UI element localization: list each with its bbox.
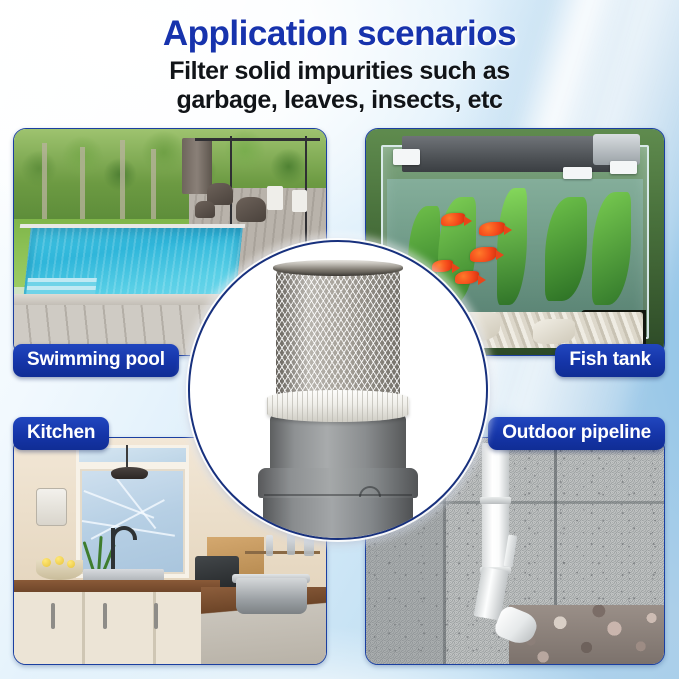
page-subtitle: Filter solid impurities such as garbage,… bbox=[0, 57, 679, 115]
subtitle-line-2: garbage, leaves, insects, etc bbox=[0, 86, 679, 115]
strainer-mesh-basket bbox=[276, 264, 400, 396]
subtitle-line-1: Filter solid impurities such as bbox=[0, 57, 679, 86]
tree-trunk bbox=[120, 140, 125, 226]
stone-chimney bbox=[182, 138, 212, 194]
patio-chair bbox=[267, 186, 283, 210]
label-fish-tank: Fish tank bbox=[555, 344, 665, 377]
poster-header: Application scenarios Filter solid impur… bbox=[0, 14, 679, 115]
product-closeup-circle bbox=[188, 240, 488, 540]
glass-clip bbox=[393, 149, 420, 165]
tree-trunk bbox=[151, 149, 156, 221]
decorative-stone bbox=[533, 319, 575, 344]
label-outdoor-pipeline: Outdoor pipeline bbox=[488, 417, 665, 450]
page-title: Application scenarios bbox=[0, 14, 679, 54]
orange-fish bbox=[441, 213, 465, 226]
application-scenarios-poster: Application scenarios Filter solid impur… bbox=[0, 0, 679, 679]
cabinet-handle[interactable] bbox=[51, 603, 55, 629]
faucet-body bbox=[111, 528, 115, 571]
valve-body-upper bbox=[270, 414, 406, 476]
tree-trunk bbox=[42, 143, 47, 224]
kitchen-countertop bbox=[14, 580, 220, 591]
cabinet-handle[interactable] bbox=[154, 603, 158, 629]
lemon bbox=[42, 558, 51, 567]
garden-planter-pot bbox=[236, 197, 266, 222]
lemon bbox=[67, 560, 75, 568]
lemon bbox=[55, 556, 64, 565]
garden-planter-pot bbox=[195, 201, 215, 218]
glass-jar bbox=[266, 535, 273, 556]
wall-clock bbox=[36, 488, 67, 526]
patio-chair bbox=[292, 190, 307, 212]
strainer-white-collar bbox=[267, 390, 409, 422]
tree-trunk bbox=[80, 147, 85, 224]
valve-body-lower bbox=[263, 492, 413, 540]
valve-body-seam bbox=[264, 494, 412, 496]
pipe-joint bbox=[480, 497, 511, 504]
label-swimming-pool: Swimming pool bbox=[13, 344, 179, 377]
kitchen-cabinets bbox=[14, 592, 220, 664]
pendant-lamp bbox=[111, 467, 148, 478]
cabinet-handle[interactable] bbox=[103, 603, 107, 629]
glass-clip bbox=[563, 167, 593, 178]
stainless-stock-pot bbox=[236, 578, 308, 614]
pergola-beam bbox=[195, 138, 320, 141]
pendant-lamp-cord bbox=[126, 445, 128, 468]
label-kitchen: Kitchen bbox=[13, 417, 109, 450]
strainer-top-rim bbox=[273, 260, 403, 276]
glass-clip bbox=[610, 161, 637, 175]
